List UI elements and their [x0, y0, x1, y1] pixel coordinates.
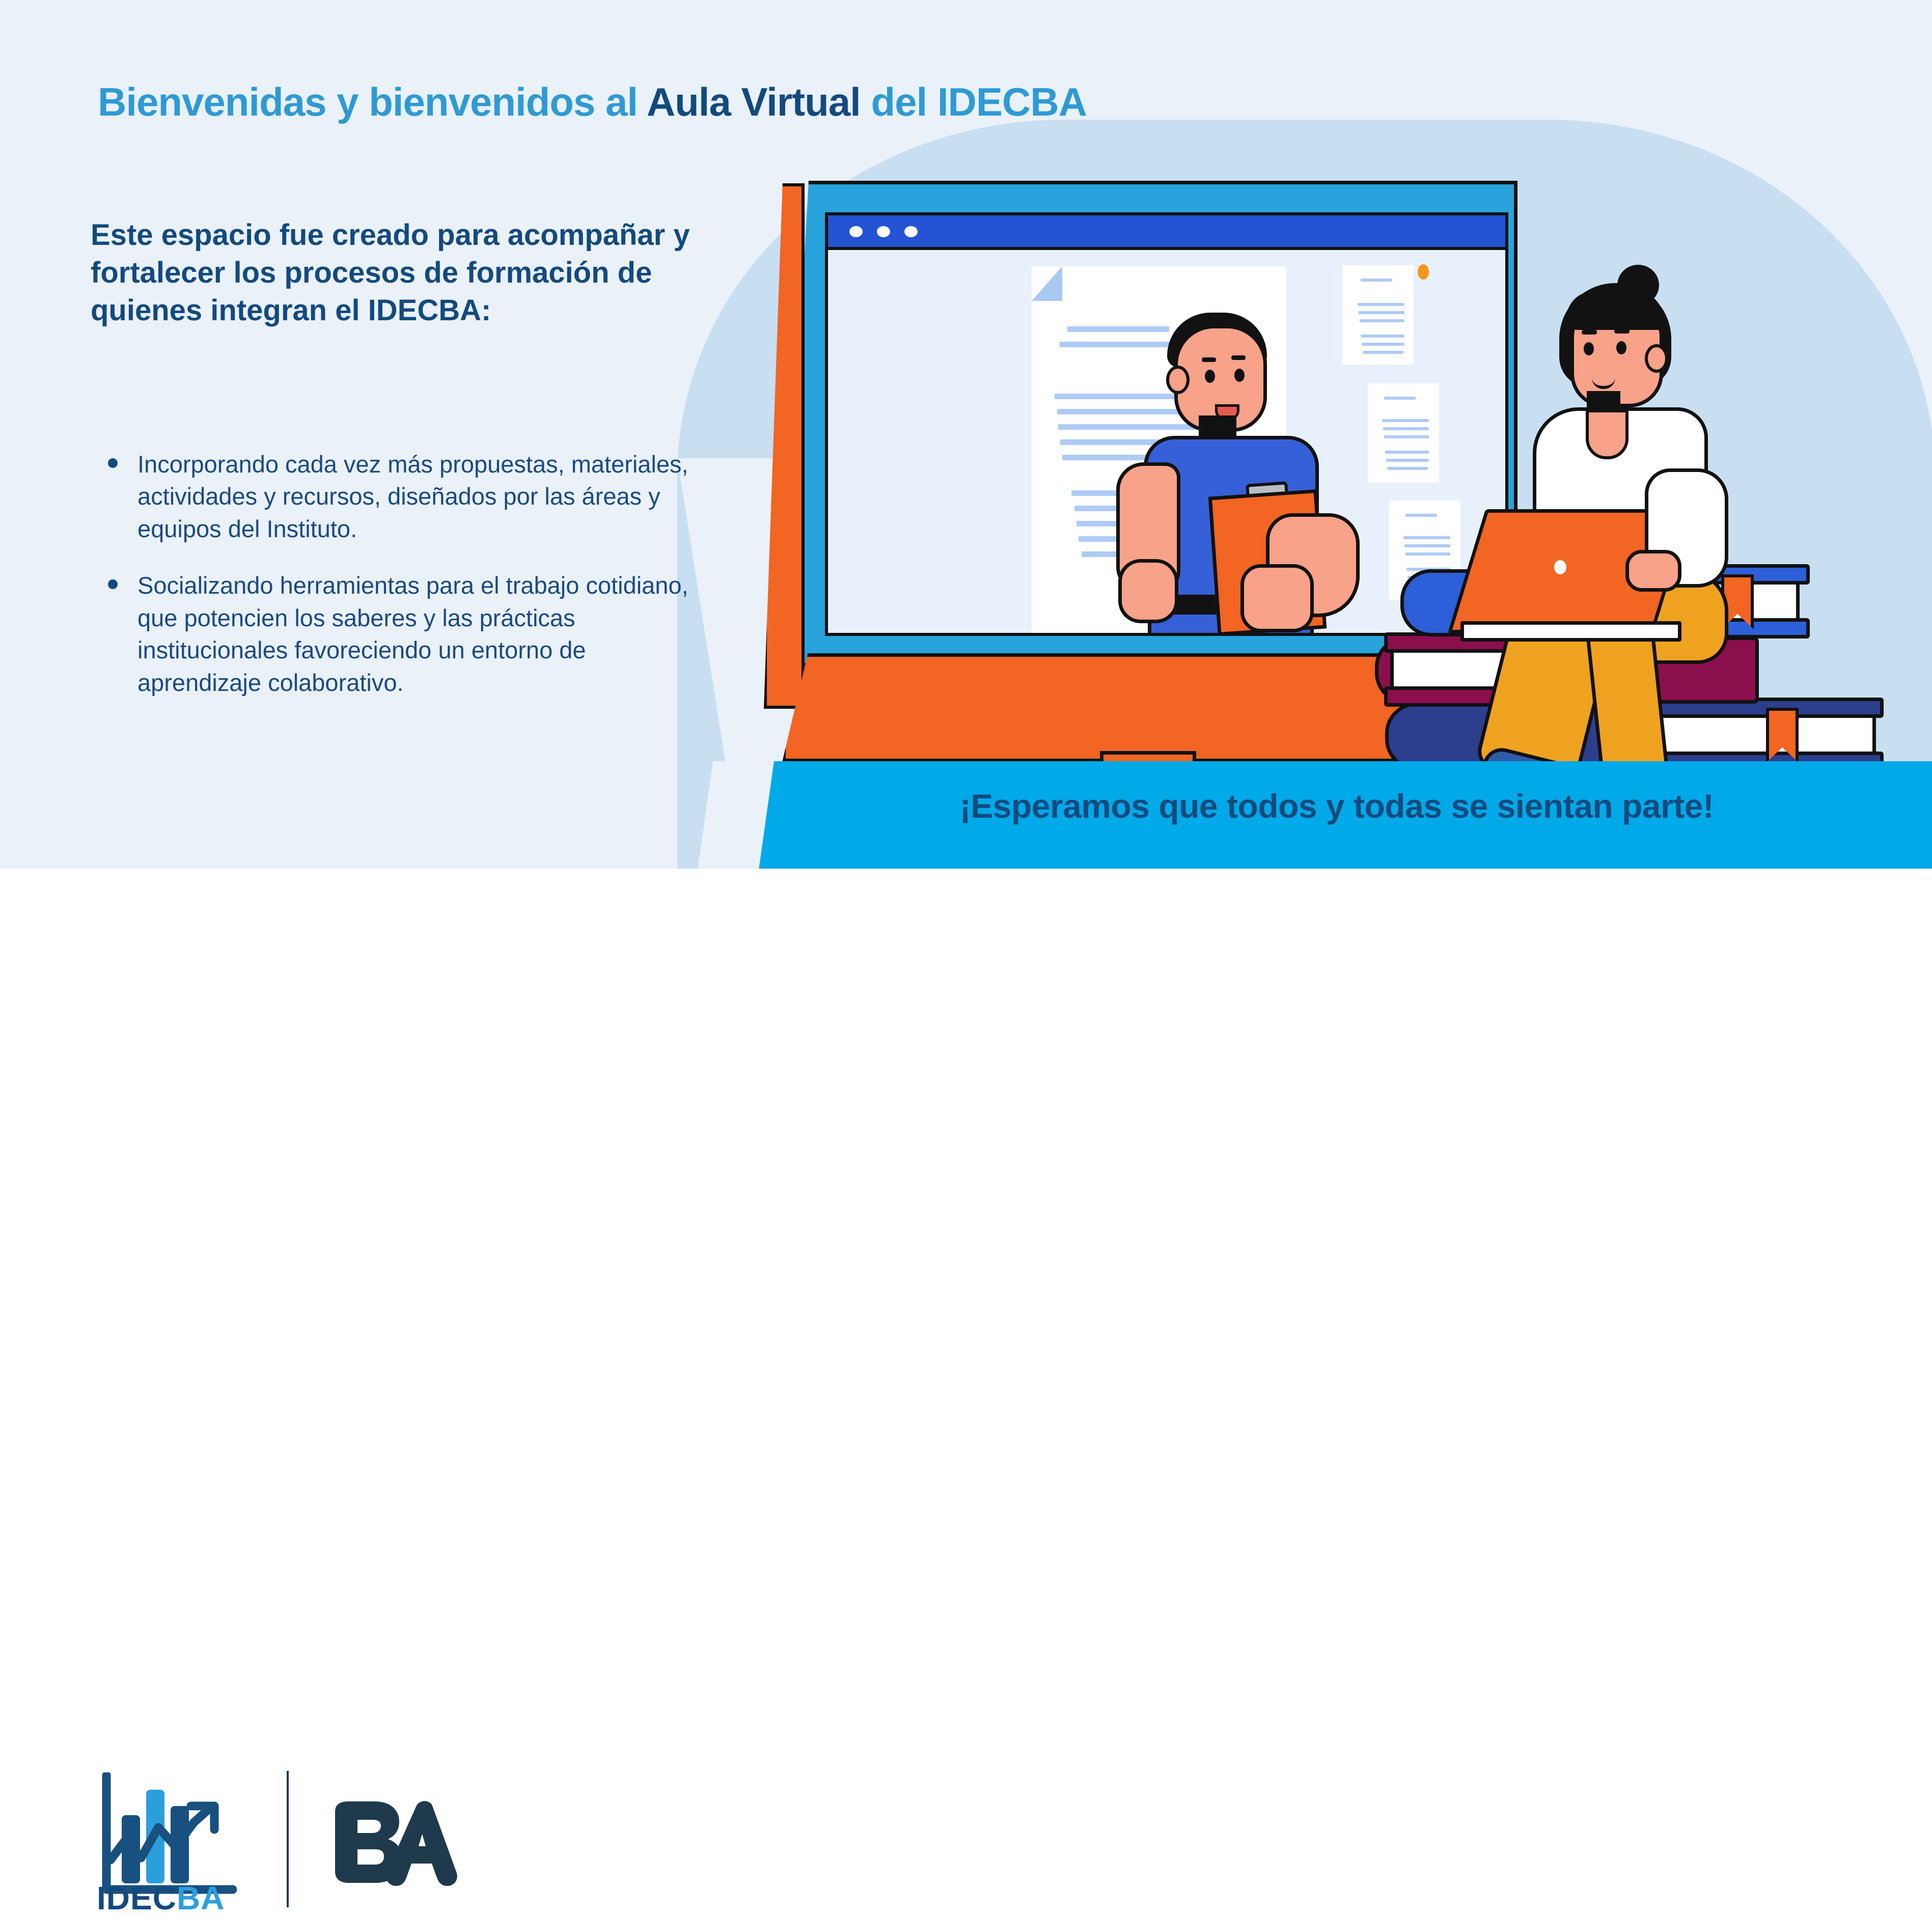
ba-logo	[331, 1800, 458, 1887]
banner-message: ¡Esperamos que todos y todas se sientan …	[741, 787, 1932, 825]
man-illustration	[1113, 294, 1353, 636]
idecba-wordmark: IDECBA	[97, 1879, 225, 1917]
woman-hand	[1625, 550, 1681, 592]
laptop-base	[1460, 621, 1681, 642]
window-dot-icon	[877, 226, 890, 237]
hero-panel: Bienvenidas y bienvenidos al Aula Virtua…	[0, 0, 1932, 869]
headline-part1: Bienvenidas y bienvenidos al	[98, 79, 647, 124]
woman-illustration	[1517, 265, 1874, 723]
bullet-list: Incorporando cada vez más propuestas, ma…	[97, 448, 698, 723]
orange-accent-dot-icon	[1418, 264, 1429, 280]
window-title-bar	[828, 215, 1505, 250]
list-item-text: Incorporando cada vez más propuestas, ma…	[137, 451, 688, 542]
list-item: Incorporando cada vez más propuestas, ma…	[97, 448, 698, 545]
list-item-text: Socializando herramientas para el trabaj…	[137, 572, 688, 696]
list-item: Socializando herramientas para el trabaj…	[97, 569, 698, 699]
man-right-hand	[1240, 564, 1314, 632]
window-dot-icon	[904, 226, 918, 237]
document-folded-corner-icon	[1032, 266, 1062, 301]
intro-paragraph: Este espacio fue creado para acompañar y…	[91, 216, 768, 330]
wordmark-idec: IDEC	[97, 1880, 177, 1916]
monitor-side-panel	[764, 183, 805, 709]
footer: IDECBA	[0, 869, 1932, 1086]
bullet-dot-icon	[108, 579, 118, 589]
logo-divider	[287, 1771, 289, 1907]
wordmark-ba: BA	[177, 1880, 225, 1916]
man-ear	[1166, 366, 1190, 394]
window-dot-icon	[849, 226, 863, 237]
page-title: Bienvenidas y bienvenidos al Aula Virtua…	[98, 79, 1087, 125]
headline-part2: del IDECBA	[861, 79, 1087, 124]
woman-ear	[1645, 344, 1668, 373]
headline-highlight: Aula Virtual	[647, 79, 861, 124]
woman-collar	[1586, 409, 1629, 459]
woman-fringe	[1566, 291, 1663, 330]
man-left-hand	[1118, 559, 1178, 623]
laptop-logo-icon	[1554, 560, 1566, 574]
bullet-dot-icon	[108, 458, 118, 468]
ba-logo-icon	[331, 1800, 458, 1887]
